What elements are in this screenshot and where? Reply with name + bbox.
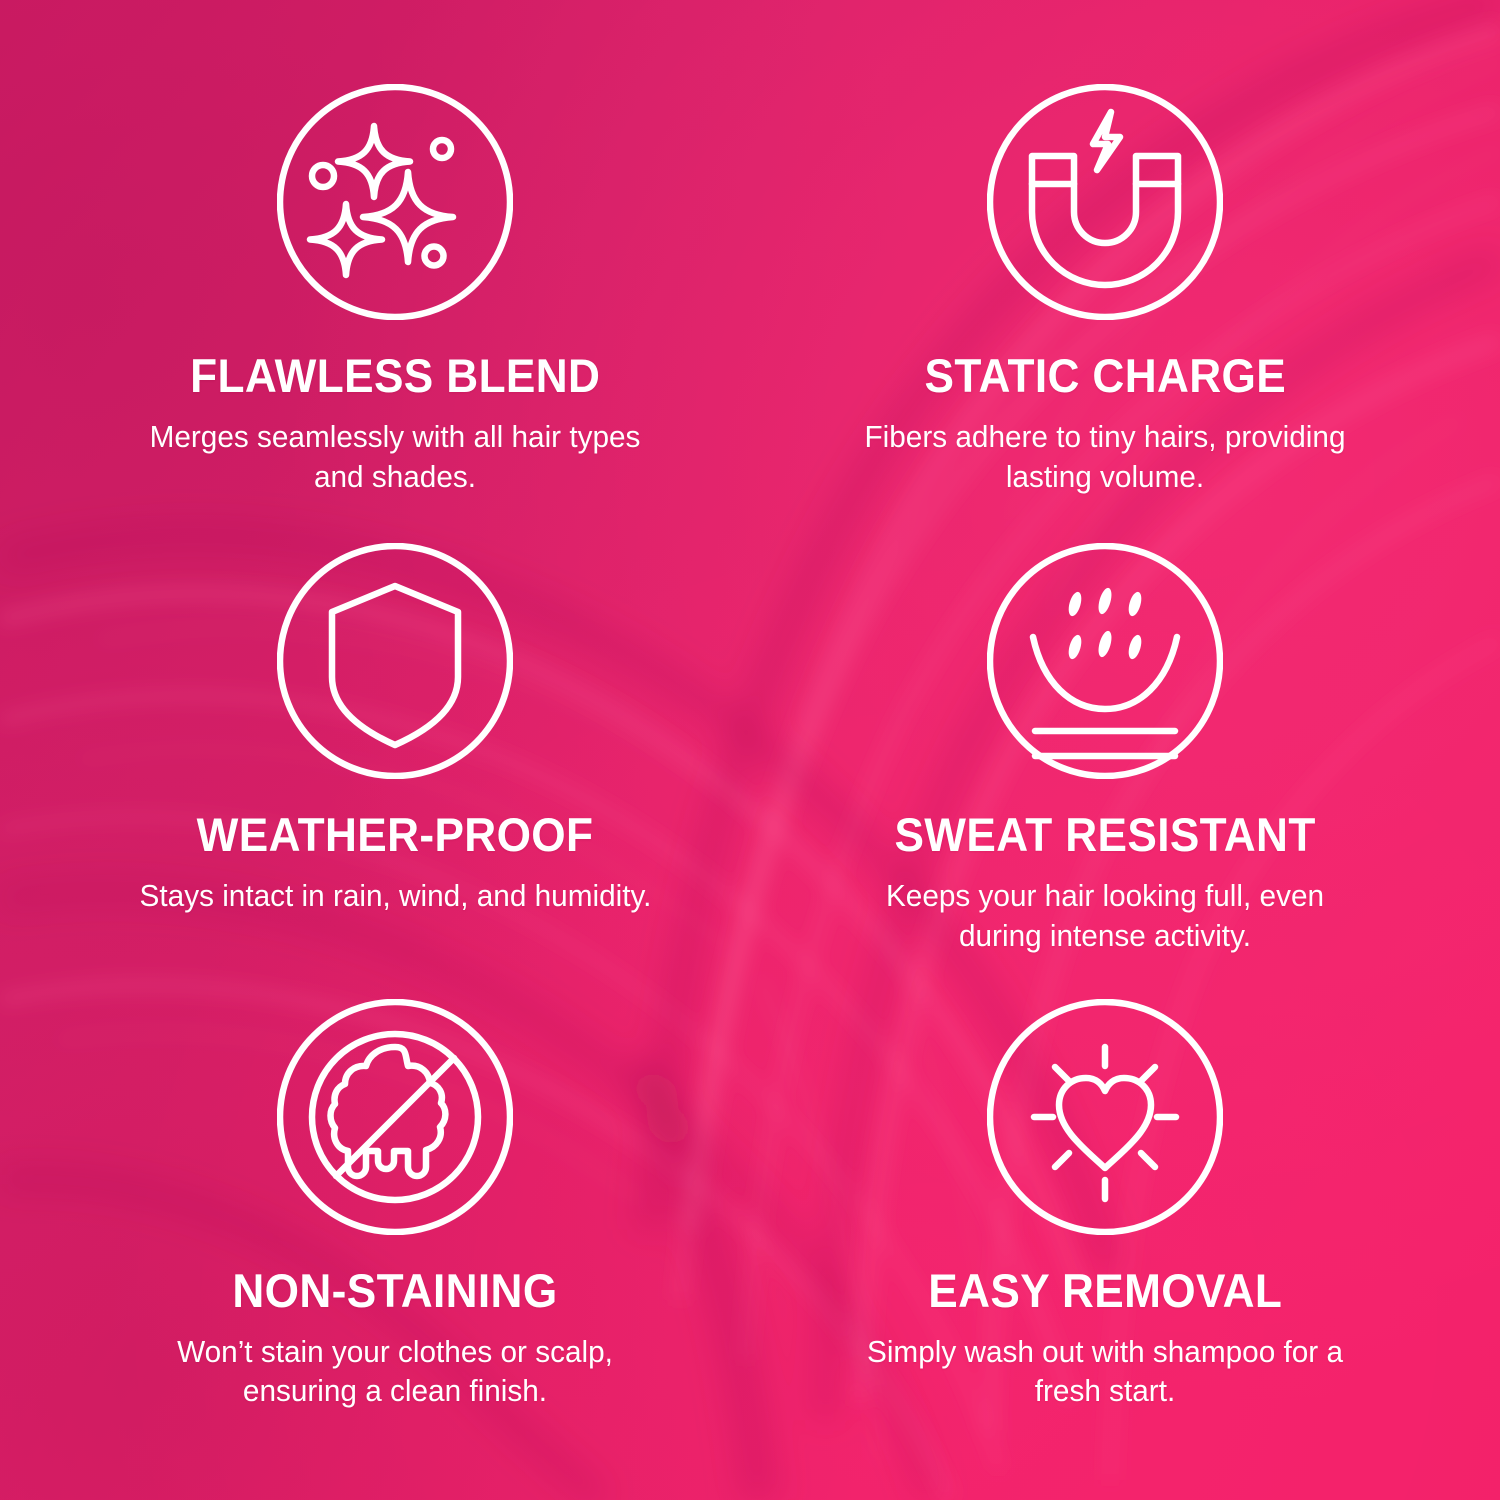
sparkles-icon <box>277 84 513 320</box>
feature-title: NON-STAINING <box>232 1267 557 1315</box>
feature-title: EASY REMOVAL <box>928 1267 1282 1315</box>
no-stain-icon <box>277 999 513 1235</box>
radiant-heart-icon <box>987 999 1223 1235</box>
feature-card-easy-removal: EASY REMOVAL Simply wash out with shampo… <box>750 989 1460 1452</box>
magnet-icon <box>987 84 1223 320</box>
feature-card-weather-proof: WEATHER-PROOF Stays intact in rain, wind… <box>40 525 750 988</box>
feature-description: Simply wash out with shampoo for a fresh… <box>842 1333 1369 1412</box>
feature-title: STATIC CHARGE <box>924 352 1286 400</box>
feature-card-sweat-resistant: SWEAT RESISTANT Keeps your hair looking … <box>750 525 1460 988</box>
shield-icon <box>277 543 513 779</box>
feature-card-non-staining: NON-STAINING Won’t stain your clothes or… <box>40 989 750 1452</box>
feature-description: Keeps your hair looking full, even durin… <box>842 877 1369 956</box>
feature-description: Won’t stain your clothes or scalp, ensur… <box>132 1333 659 1412</box>
feature-title: FLAWLESS BLEND <box>190 352 600 400</box>
water-repel-icon <box>987 543 1223 779</box>
feature-grid: FLAWLESS BLEND Merges seamlessly with al… <box>0 0 1500 1500</box>
feature-card-static-charge: STATIC CHARGE Fibers adhere to tiny hair… <box>750 62 1460 525</box>
feature-title: SWEAT RESISTANT <box>894 811 1315 859</box>
feature-description: Merges seamlessly with all hair types an… <box>132 418 659 497</box>
feature-description: Stays intact in rain, wind, and humidity… <box>139 877 651 917</box>
feature-card-flawless-blend: FLAWLESS BLEND Merges seamlessly with al… <box>40 62 750 525</box>
feature-title: WEATHER-PROOF <box>197 811 594 859</box>
feature-description: Fibers adhere to tiny hairs, providing l… <box>842 418 1369 497</box>
